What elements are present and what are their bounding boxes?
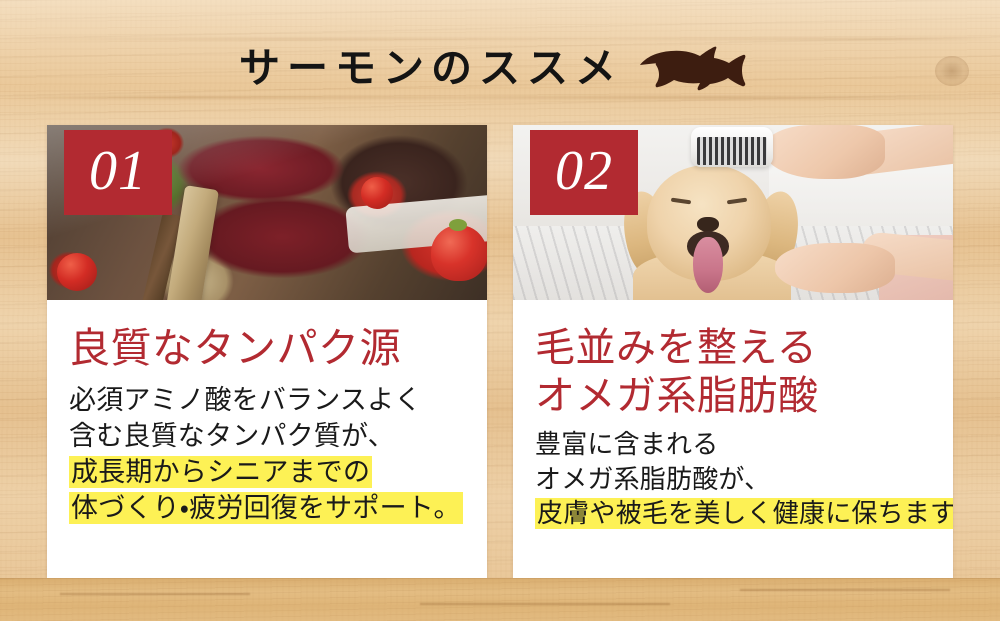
card-line-text-highlighted: 皮膚や被毛を美しく健康に保ちます。 <box>535 498 953 529</box>
brush-bristles-shape <box>697 137 767 165</box>
card-number-badge-01: 01 <box>64 130 172 215</box>
card-body-02: 毛並みを整える オメガ系脂肪酸 豊富に含まれる オメガ系脂肪酸が、 皮膚や被毛を… <box>513 300 953 532</box>
card-line-text: 豊富に含まれる <box>535 430 718 459</box>
page-title: サーモンのススメ <box>239 48 623 89</box>
dog-tongue-shape <box>693 237 723 293</box>
wood-plank-bottom <box>0 578 1000 621</box>
card-text-lines-02: 豊富に含まれる オメガ系脂肪酸が、 皮膚や被毛を美しく健康に保ちます。 <box>535 428 933 532</box>
benefit-card-02: 02 毛並みを整える オメガ系脂肪酸 豊富に含まれる オメガ系脂肪酸が、 皮膚や… <box>513 125 953 578</box>
card-line: 成長期からシニアまでの <box>69 455 467 491</box>
card-line-text-highlighted: 成長期からシニアまでの <box>69 456 372 488</box>
card-line: 含む良質なタンパク質が、 <box>69 419 467 455</box>
card-line: オメガ系脂肪酸が、 <box>535 463 933 498</box>
tomato-shape <box>57 253 97 291</box>
wood-knot <box>935 56 969 86</box>
bell-pepper-shape <box>431 225 487 281</box>
card-line-text: オメガ系脂肪酸が、 <box>535 465 770 494</box>
plank-grain-streak <box>420 603 670 605</box>
person-hand-shape <box>765 125 885 179</box>
person-hand-shape <box>775 243 895 293</box>
card-heading-02: 毛並みを整える オメガ系脂肪酸 <box>535 324 933 420</box>
plank-grain-streak <box>60 593 250 595</box>
plank-grain-streak <box>740 589 950 591</box>
card-line-text: 含む良質なタンパク質が、 <box>69 421 395 451</box>
tomato-shape <box>361 177 393 209</box>
card-line: 体づくり・疲労回復をサポート。 <box>69 491 467 527</box>
card-photo-dog: 02 <box>513 125 953 300</box>
card-number-text: 02 <box>555 143 613 203</box>
card-number-badge-02: 02 <box>530 130 638 215</box>
card-number-text: 01 <box>89 143 147 203</box>
header: サーモンのススメ <box>0 36 1000 100</box>
card-line: 豊富に含まれる <box>535 428 933 463</box>
card-text-lines-01: 必須アミノ酸をバランスよく 含む良質なタンパク質が、 成長期からシニアまでの 体… <box>69 383 467 527</box>
card-line: 必須アミノ酸をバランスよく <box>69 383 467 419</box>
salmon-fish-icon <box>637 43 761 93</box>
promo-banner: サーモンのススメ 01 良質なタンパク源 必須アミノ酸をバランスよく 含 <box>0 0 1000 621</box>
dog-nose-shape <box>697 217 719 232</box>
card-line-text: 必須アミノ酸をバランスよく <box>69 385 422 415</box>
card-body-01: 良質なタンパク源 必須アミノ酸をバランスよく 含む良質なタンパク質が、 成長期か… <box>47 300 487 527</box>
benefit-card-01: 01 良質なタンパク源 必須アミノ酸をバランスよく 含む良質なタンパク質が、 成… <box>47 125 487 578</box>
card-heading-01: 良質なタンパク源 <box>69 324 467 373</box>
card-photo-meat: 01 <box>47 125 487 300</box>
card-line: 皮膚や被毛を美しく健康に保ちます。 <box>535 497 933 532</box>
card-line-text-highlighted: 体づくり・疲労回復をサポート。 <box>69 492 463 524</box>
